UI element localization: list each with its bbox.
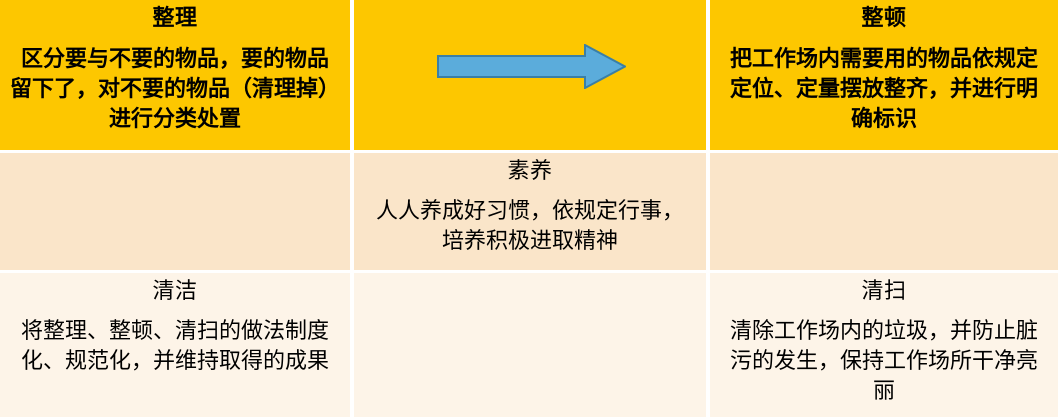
cell-shitsuke-sustain[interactable]: 素养 人人养成好习惯，依规定行事， 培养积极进取精神 — [354, 153, 706, 270]
cell-arrow-up-container — [0, 153, 350, 270]
arrow-right-icon — [437, 44, 626, 89]
cell-seiso-shine[interactable]: 清扫 清除工作场内的垃圾，并防止脏 污的发生，保持工作场所干净亮 丽 — [710, 273, 1058, 417]
cell-body-seiton: 把工作场内需要用的物品依规定 定位、定量摆放整齐，并进行明 确标识 — [716, 33, 1052, 134]
cell-title-seiketsu: 清洁 — [6, 273, 344, 306]
five-s-diagram: 整理 区分要与不要的物品，要的物品 留下了，对不要的物品（清理掉） 进行分类处置… — [0, 0, 1058, 417]
cell-seiton-set-in-order[interactable]: 整顿 把工作场内需要用的物品依规定 定位、定量摆放整齐，并进行明 确标识 — [710, 0, 1058, 150]
cell-body-seiso: 清除工作场内的垃圾，并防止脏 污的发生，保持工作场所干净亮 丽 — [716, 306, 1052, 406]
cell-arrow-down-container — [710, 153, 1058, 270]
cell-body-seiketsu: 将整理、整顿、清扫的做法制度 化、规范化，并维持取得的成果 — [6, 306, 344, 376]
cell-title-shitsuke: 素养 — [360, 153, 700, 186]
cell-title-seiso: 清扫 — [716, 273, 1052, 306]
diagram-grid: 整理 区分要与不要的物品，要的物品 留下了，对不要的物品（清理掉） 进行分类处置… — [0, 0, 1058, 417]
cell-seiketsu-standardize[interactable]: 清洁 将整理、整顿、清扫的做法制度 化、规范化，并维持取得的成果 — [0, 273, 350, 417]
cell-seiri-sort[interactable]: 整理 区分要与不要的物品，要的物品 留下了，对不要的物品（清理掉） 进行分类处置 — [0, 0, 350, 150]
cell-title-seiton: 整顿 — [716, 0, 1052, 33]
cell-arrow-right-container — [354, 0, 706, 150]
cell-title-seiri: 整理 — [6, 0, 344, 33]
cell-body-seiri: 区分要与不要的物品，要的物品 留下了，对不要的物品（清理掉） 进行分类处置 — [6, 33, 344, 134]
cell-body-shitsuke: 人人养成好习惯，依规定行事， 培养积极进取精神 — [360, 186, 700, 256]
cell-arrow-left-container — [354, 273, 706, 417]
